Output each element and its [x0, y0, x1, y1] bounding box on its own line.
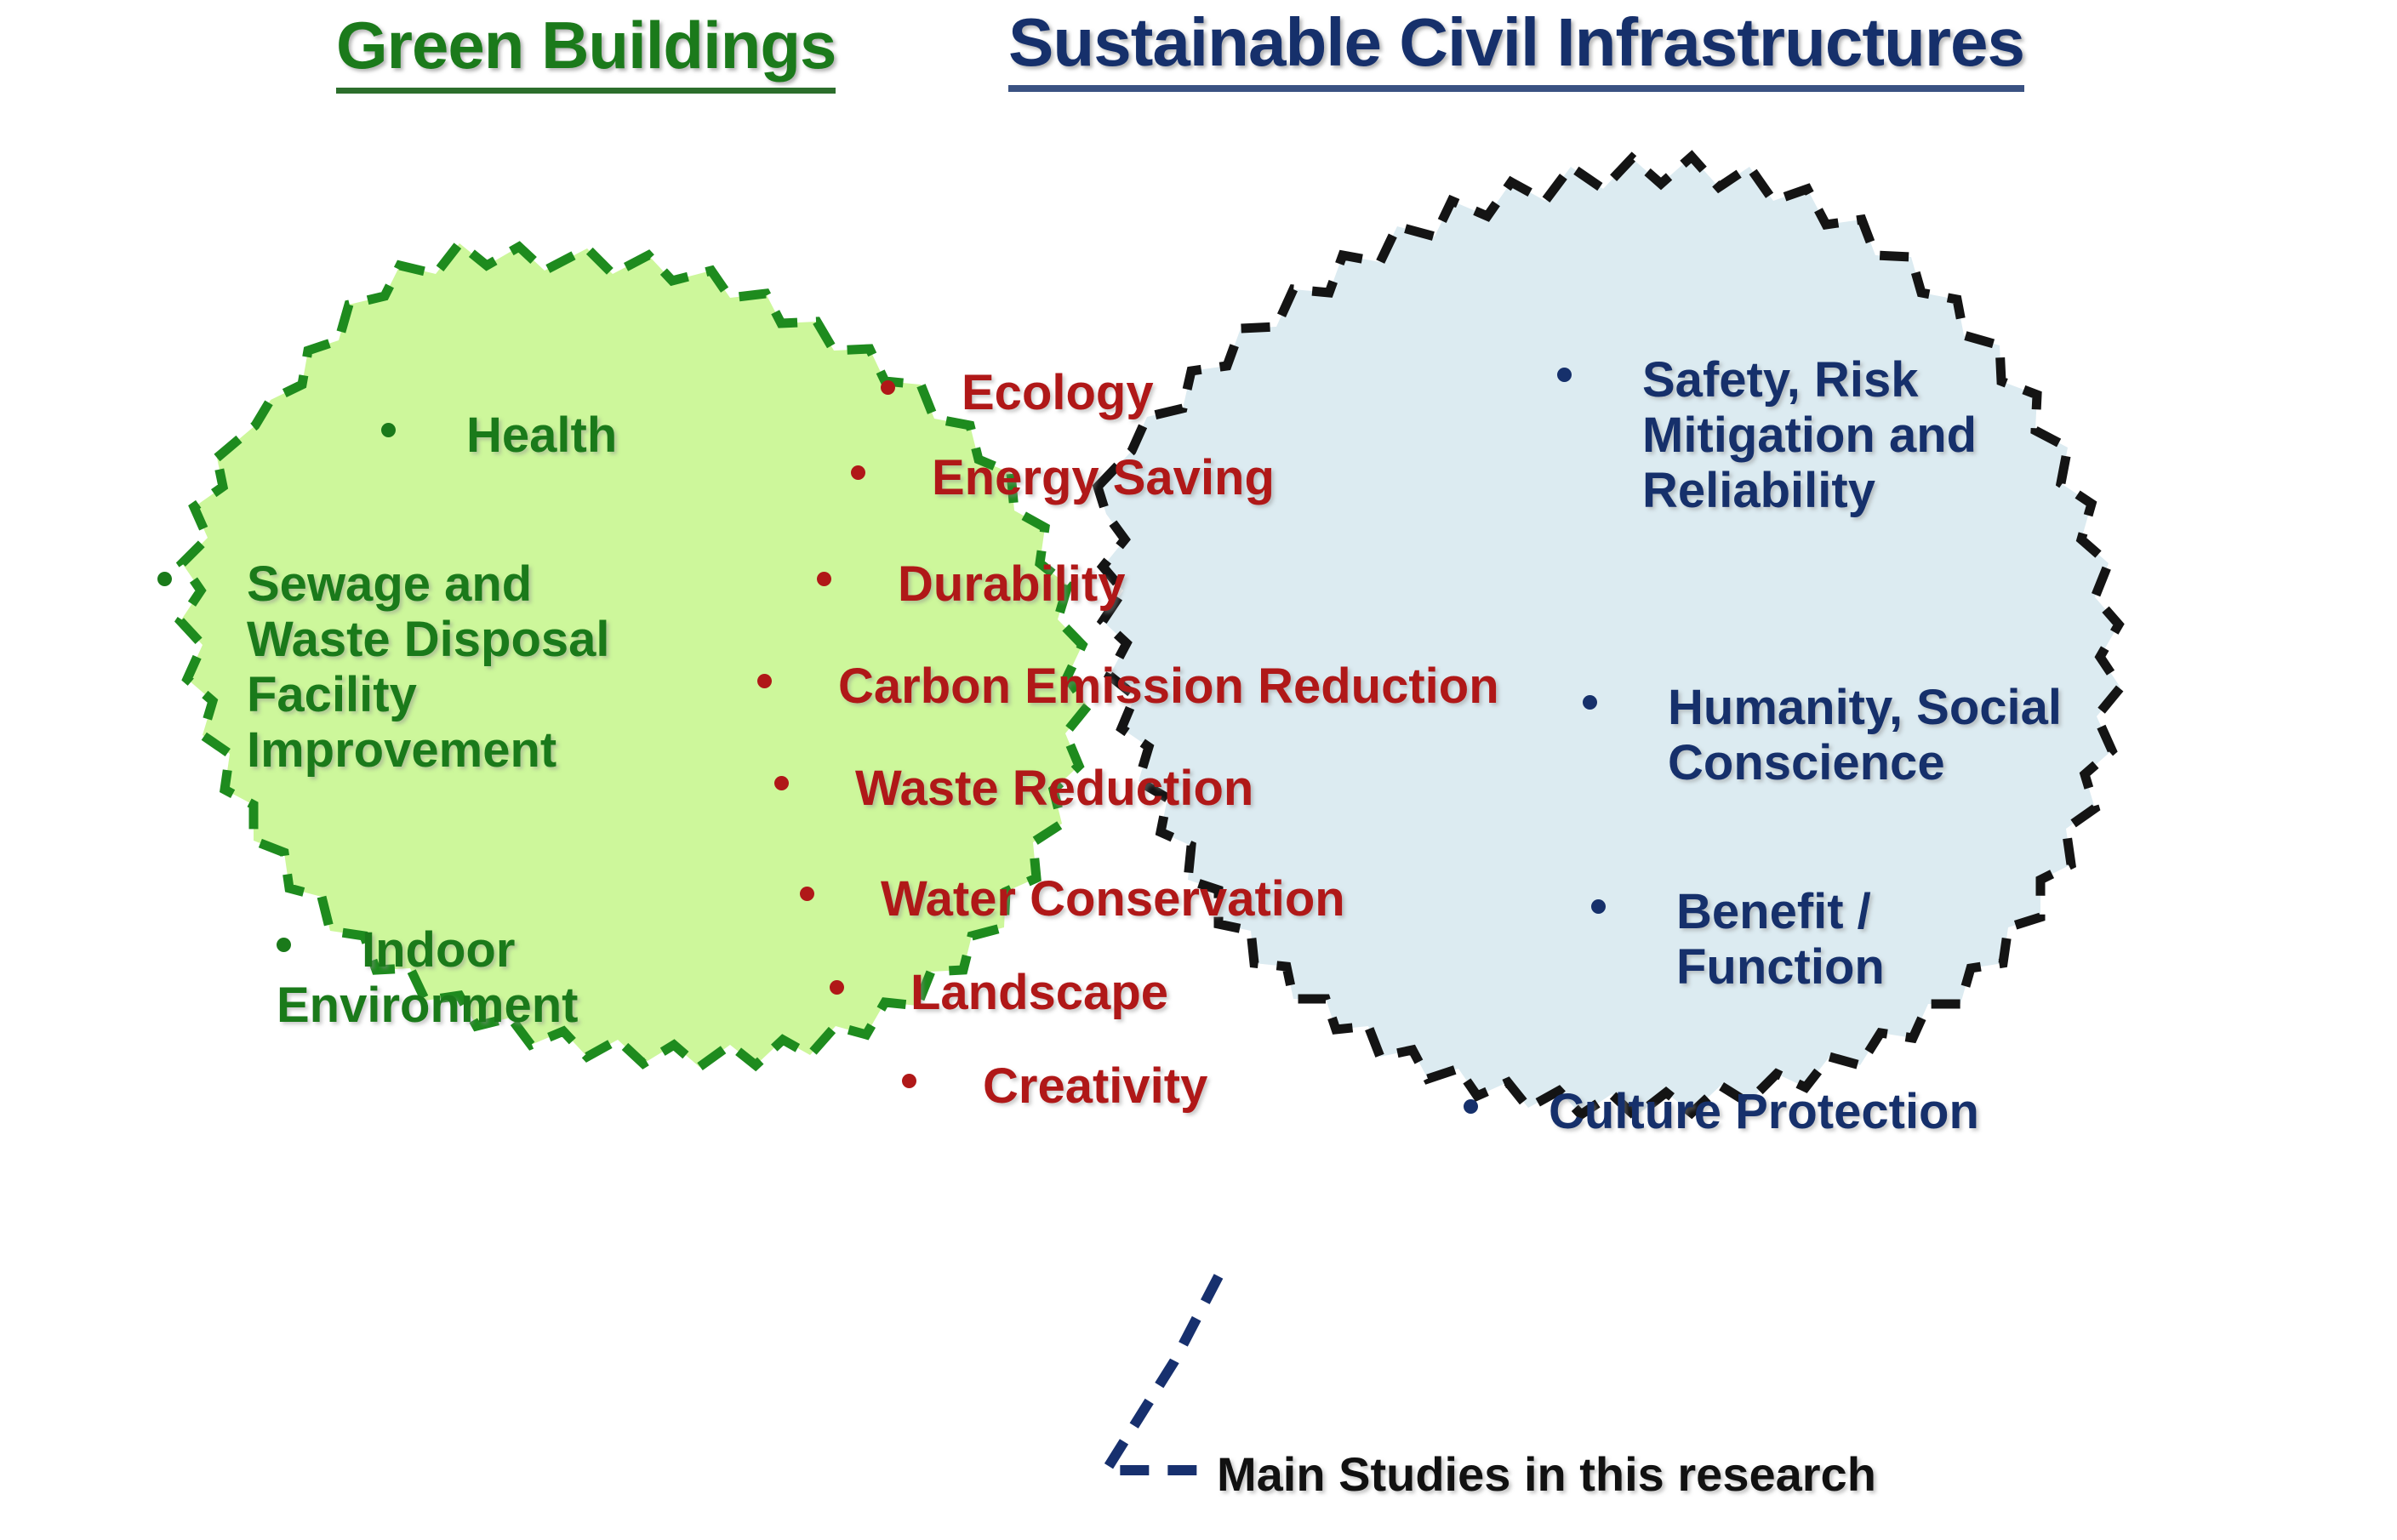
diagram-canvas: Green Buildings Sustainable Civil Infras… [0, 0, 2397, 1540]
title-green-buildings: Green Buildings [336, 7, 836, 94]
list-item-overlap-landscape: Landscape [830, 966, 1168, 1021]
bullet-icon [381, 423, 396, 437]
bullet-icon [851, 465, 865, 480]
list-item-overlap-carbon-emission-reduction: Carbon Emission Reduction [757, 659, 1499, 715]
bullet-icon [1464, 1099, 1478, 1114]
list-item-overlap-creativity: Creativity [902, 1059, 1207, 1115]
list-item-green-sewage: Sewage and Waste Disposal Facility Impro… [157, 557, 634, 779]
legend-leader-line [1106, 1276, 1218, 1470]
bullet-icon [774, 776, 789, 790]
bullet-icon [1557, 368, 1572, 382]
list-item-green-health: Health [381, 408, 739, 464]
bullet-icon [157, 572, 172, 586]
bullet-icon [757, 674, 772, 688]
bullet-icon [817, 572, 831, 586]
list-item-blue-culture-protection: Culture Protection [1464, 1085, 2059, 1140]
list-item-overlap-waste-reduction: Waste Reduction [774, 761, 1253, 817]
bullet-icon [1583, 695, 1597, 710]
bullet-icon [277, 938, 291, 952]
list-item-green-indoor-environment: Indoor Environment [277, 923, 719, 1034]
legend-label-main-studies: Main Studies in this research [1217, 1446, 1876, 1502]
bullet-icon [902, 1074, 916, 1088]
list-item-blue-humanity-social-conscience: Humanity, Social Conscience [1583, 681, 2161, 791]
list-item-overlap-energy-saving: Energy Saving [851, 451, 1275, 506]
bullet-icon [800, 887, 814, 901]
bullet-icon [830, 980, 844, 995]
list-item-overlap-durability: Durability [817, 557, 1126, 613]
list-item-blue-safety-risk: Safety, Risk Mitigation and Reliability [1557, 353, 2085, 519]
bullet-icon [881, 380, 895, 395]
list-item-overlap-ecology: Ecology [881, 366, 1154, 421]
title-sustainable-civil-infrastructures: Sustainable Civil Infrastructures [1008, 3, 2024, 92]
list-item-overlap-water-conservation: Water Conservation [800, 872, 1345, 927]
bullet-icon [1591, 899, 1606, 914]
list-item-blue-benefit-function: Benefit / Function [1591, 885, 2034, 995]
